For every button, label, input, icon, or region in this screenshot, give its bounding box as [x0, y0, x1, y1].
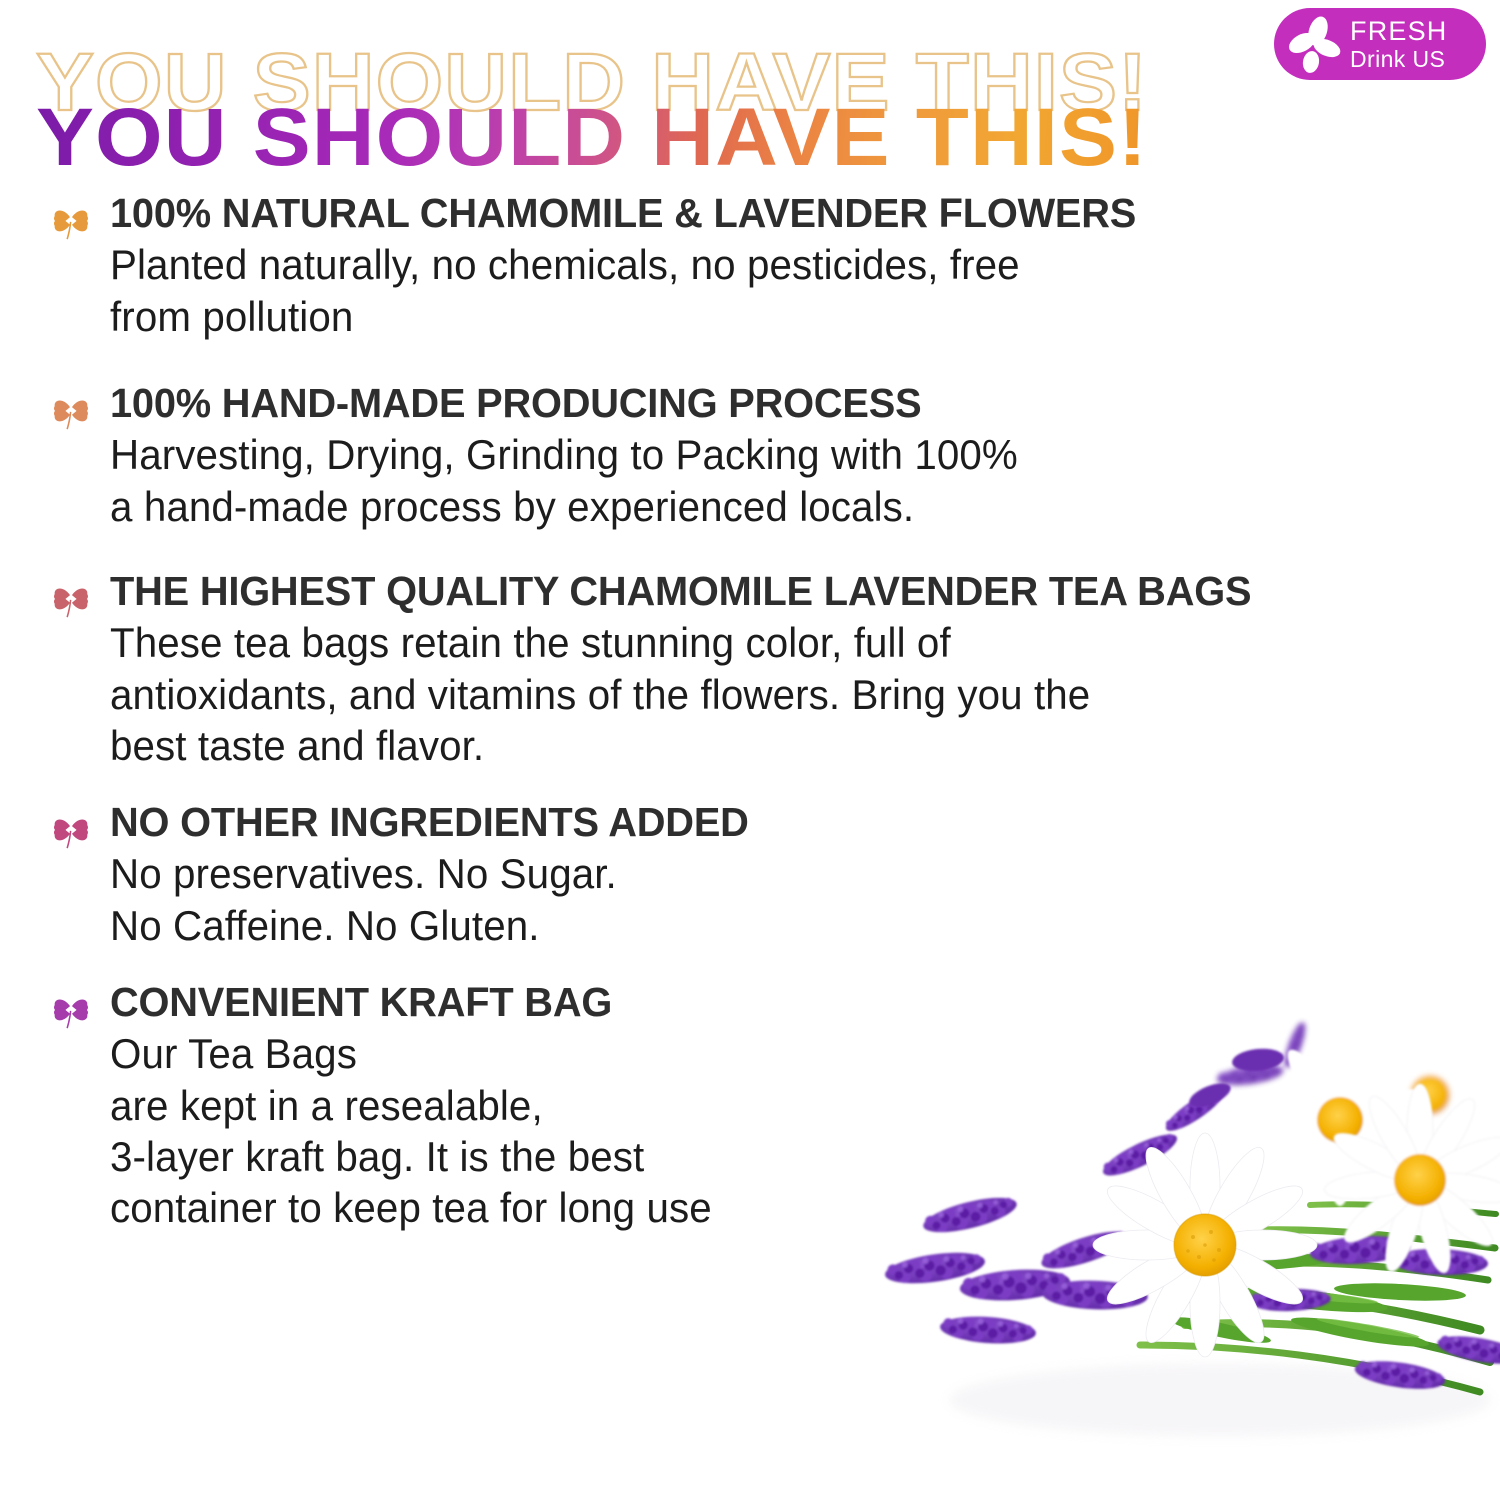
feature-body: 100% HAND-MADE PRODUCING PROCESS Harvest…	[110, 382, 1468, 532]
bullet-wrap	[48, 382, 110, 432]
page-title: YOU SHOULD HAVE THIS!	[36, 97, 1148, 179]
bullet-wrap	[48, 570, 110, 620]
feature-title: NO OTHER INGREDIENTS ADDED	[110, 801, 1427, 844]
feature-desc-line: Planted naturally, no chemicals, no pest…	[110, 239, 1414, 290]
feature-title: 100% NATURAL CHAMOMILE & LAVENDER FLOWER…	[110, 192, 1427, 235]
four-leaf-clover-icon	[48, 386, 94, 432]
feature-title: CONVENIENT KRAFT BAG	[110, 981, 1427, 1024]
four-leaf-clover-icon	[48, 805, 94, 851]
four-leaf-clover-icon	[48, 196, 94, 242]
feature-description: Our Tea Bags are kept in a resealable, 3…	[110, 1028, 1414, 1233]
feature-item: 100% HAND-MADE PRODUCING PROCESS Harvest…	[48, 382, 1468, 532]
bullet-wrap	[48, 801, 110, 851]
feature-title: 100% HAND-MADE PRODUCING PROCESS	[110, 382, 1427, 425]
feature-body: NO OTHER INGREDIENTS ADDED No preservati…	[110, 801, 1468, 951]
feature-item: CONVENIENT KRAFT BAG Our Tea Bags are ke…	[48, 981, 1468, 1233]
feature-desc-line: 3-layer kraft bag. It is the best	[110, 1131, 1414, 1182]
feature-description: No preservatives. No Sugar. No Caffeine.…	[110, 848, 1414, 950]
flower-petals-icon	[1284, 13, 1346, 75]
feature-desc-line: These tea bags retain the stunning color…	[110, 617, 1414, 668]
feature-item: NO OTHER INGREDIENTS ADDED No preservati…	[48, 801, 1468, 951]
feature-desc-line: antioxidants, and vitamins of the flower…	[110, 669, 1414, 720]
feature-desc-line: are kept in a resealable,	[110, 1080, 1414, 1131]
brand-logo[interactable]: FRESH Drink US	[1274, 8, 1486, 80]
feature-desc-line: container to keep tea for long use	[110, 1182, 1414, 1233]
brand-name-secondary: Drink US	[1350, 48, 1448, 71]
feature-title: THE HIGHEST QUALITY CHAMOMILE LAVENDER T…	[110, 570, 1427, 613]
feature-desc-line: Harvesting, Drying, Grinding to Packing …	[110, 429, 1414, 480]
bullet-wrap	[48, 192, 110, 242]
feature-body: CONVENIENT KRAFT BAG Our Tea Bags are ke…	[110, 981, 1468, 1233]
feature-description: Harvesting, Drying, Grinding to Packing …	[110, 429, 1414, 531]
feature-desc-line: No preservatives. No Sugar.	[110, 848, 1414, 899]
feature-body: 100% NATURAL CHAMOMILE & LAVENDER FLOWER…	[110, 192, 1468, 342]
feature-list: 100% NATURAL CHAMOMILE & LAVENDER FLOWER…	[48, 192, 1468, 1233]
feature-desc-line: No Caffeine. No Gluten.	[110, 900, 1414, 951]
brand-name-primary: FRESH	[1350, 18, 1448, 45]
feature-description: Planted naturally, no chemicals, no pest…	[110, 239, 1414, 341]
feature-item: 100% NATURAL CHAMOMILE & LAVENDER FLOWER…	[48, 192, 1468, 342]
four-leaf-clover-icon	[48, 574, 94, 620]
feature-description: These tea bags retain the stunning color…	[110, 617, 1414, 771]
feature-desc-line: Our Tea Bags	[110, 1028, 1414, 1079]
feature-desc-line: best taste and flavor.	[110, 720, 1414, 771]
feature-desc-line: a hand-made process by experienced local…	[110, 481, 1414, 532]
feature-body: THE HIGHEST QUALITY CHAMOMILE LAVENDER T…	[110, 570, 1468, 771]
bullet-wrap	[48, 981, 110, 1031]
feature-desc-line: from pollution	[110, 291, 1414, 342]
four-leaf-clover-icon	[48, 985, 94, 1031]
feature-item: THE HIGHEST QUALITY CHAMOMILE LAVENDER T…	[48, 570, 1468, 771]
